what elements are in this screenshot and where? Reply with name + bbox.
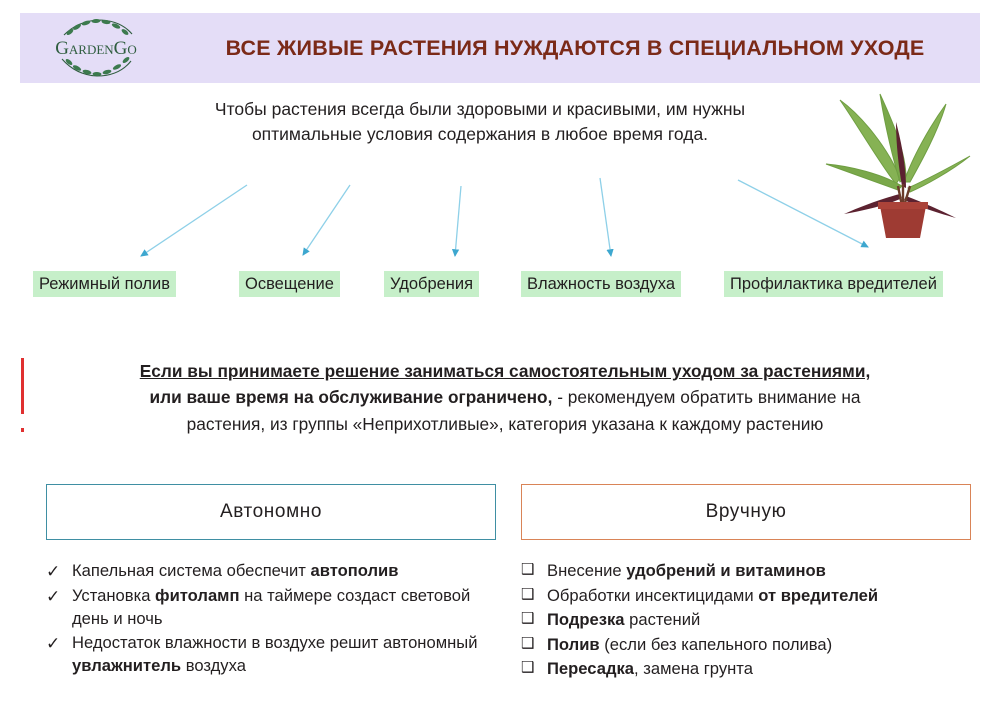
text-bold: Полив (547, 635, 600, 654)
list-item[interactable]: ✓ Установка фитоламп на таймере создаст … (46, 585, 506, 630)
text-post: воздуха (181, 656, 246, 675)
care-chip-air-humidity[interactable]: Влажность воздуха (521, 271, 681, 297)
intro-line-2: оптимальные условия содержания в любое в… (252, 124, 708, 144)
checkbox-icon[interactable]: ❑ (521, 560, 547, 580)
callout-accent-bar (21, 358, 24, 414)
care-topics-row: Режимный полив Освещение Удобрения Влажн… (0, 271, 1000, 297)
checkbox-icon[interactable]: ❑ (521, 585, 547, 605)
text-bold: фитоламп (155, 586, 239, 605)
care-chip-regular-watering[interactable]: Режимный полив (33, 271, 176, 297)
list-item[interactable]: ❑ Обработки инсектицидами от вредителей (521, 585, 981, 608)
text-pre: Установка (72, 586, 155, 605)
check-icon: ✓ (46, 585, 72, 608)
callout-line-2-rest: - рекомендуем обратить внимание на (552, 387, 860, 407)
text-pre: Обработки инсектицидами (547, 586, 758, 605)
mode-title-automatic: Автономно (220, 501, 322, 523)
header-band: GardenGo ВСЕ ЖИВЫЕ РАСТЕНИЯ НУЖДАЮТСЯ В … (20, 13, 980, 83)
list-item[interactable]: ✓ Капельная система обеспечит автополив (46, 560, 506, 583)
list-item[interactable]: ✓ Недостаток влажности в воздухе решит а… (46, 632, 506, 677)
list-item-text: Пересадка, замена грунта (547, 658, 981, 681)
text-pre: Капельная система обеспечит (72, 561, 311, 580)
intro-line-1: Чтобы растения всегда были здоровыми и к… (215, 99, 745, 119)
laurel-wreath-icon: GardenGo (32, 15, 160, 81)
list-item-text: Подрезка растений (547, 609, 981, 632)
text-pre: Внесение (547, 561, 626, 580)
text-post: (если без капельного полива) (600, 635, 833, 654)
care-chip-pest-prevention[interactable]: Профилактика вредителей (724, 271, 943, 297)
mode-title-manual: Вручную (706, 501, 787, 523)
list-item[interactable]: ❑ Пересадка, замена грунта (521, 658, 981, 681)
text-bold: удобрений и витаминов (626, 561, 826, 580)
callout-accent-dot (21, 428, 24, 432)
callout-line-2-bold: или ваше время на обслуживание ограничен… (150, 387, 553, 407)
checkbox-icon[interactable]: ❑ (521, 609, 547, 629)
logo-text: GardenGo (55, 38, 137, 59)
check-icon: ✓ (46, 632, 72, 655)
automatic-care-list: ✓ Капельная система обеспечит автополив … (46, 560, 506, 679)
list-item-text: Установка фитоламп на таймере создаст св… (72, 585, 506, 630)
potted-plant-image (818, 86, 988, 241)
mode-box-automatic[interactable]: Автономно (46, 484, 496, 540)
arrow-to-chip-1 (141, 185, 247, 256)
text-pre: Недостаток влажности в воздухе решит авт… (72, 633, 477, 652)
list-item-text: Капельная система обеспечит автополив (72, 560, 506, 583)
checkbox-icon[interactable]: ❑ (521, 634, 547, 654)
list-item[interactable]: ❑ Внесение удобрений и витаминов (521, 560, 981, 583)
page-title: ВСЕ ЖИВЫЕ РАСТЕНИЯ НУЖДАЮТСЯ В СПЕЦИАЛЬН… (170, 13, 980, 83)
text-post: , замена грунта (634, 659, 753, 678)
care-chip-lighting[interactable]: Освещение (239, 271, 340, 297)
mode-box-manual[interactable]: Вручную (521, 484, 971, 540)
list-item-text: Обработки инсектицидами от вредителей (547, 585, 981, 608)
list-item[interactable]: ❑ Полив (если без капельного полива) (521, 634, 981, 657)
arrow-to-chip-2 (303, 185, 350, 255)
callout-line-3: растения, из группы «Неприхотливые», кат… (187, 414, 824, 434)
arrow-to-chip-3 (455, 186, 461, 256)
text-post: растений (625, 610, 701, 629)
list-item[interactable]: ❑ Подрезка растений (521, 609, 981, 632)
check-icon: ✓ (46, 560, 72, 583)
manual-care-list: ❑ Внесение удобрений и витаминов ❑ Обраб… (521, 560, 981, 683)
text-bold: увлажнитель (72, 656, 181, 675)
brand-logo: GardenGo (32, 15, 160, 81)
care-chip-fertilizers[interactable]: Удобрения (384, 271, 479, 297)
callout-text: Если вы принимаете решение заниматься са… (40, 358, 970, 437)
text-bold: автополив (311, 561, 399, 580)
text-bold: Подрезка (547, 610, 625, 629)
list-item-text: Недостаток влажности в воздухе решит авт… (72, 632, 506, 677)
text-bold: от вредителей (758, 586, 878, 605)
list-item-text: Внесение удобрений и витаминов (547, 560, 981, 583)
text-bold: Пересадка (547, 659, 634, 678)
checkbox-icon[interactable]: ❑ (521, 658, 547, 678)
list-item-text: Полив (если без капельного полива) (547, 634, 981, 657)
callout-line-1: Если вы принимаете решение заниматься са… (140, 361, 871, 381)
intro-paragraph: Чтобы растения всегда были здоровыми и к… (150, 97, 810, 148)
arrow-to-chip-4 (600, 178, 611, 256)
